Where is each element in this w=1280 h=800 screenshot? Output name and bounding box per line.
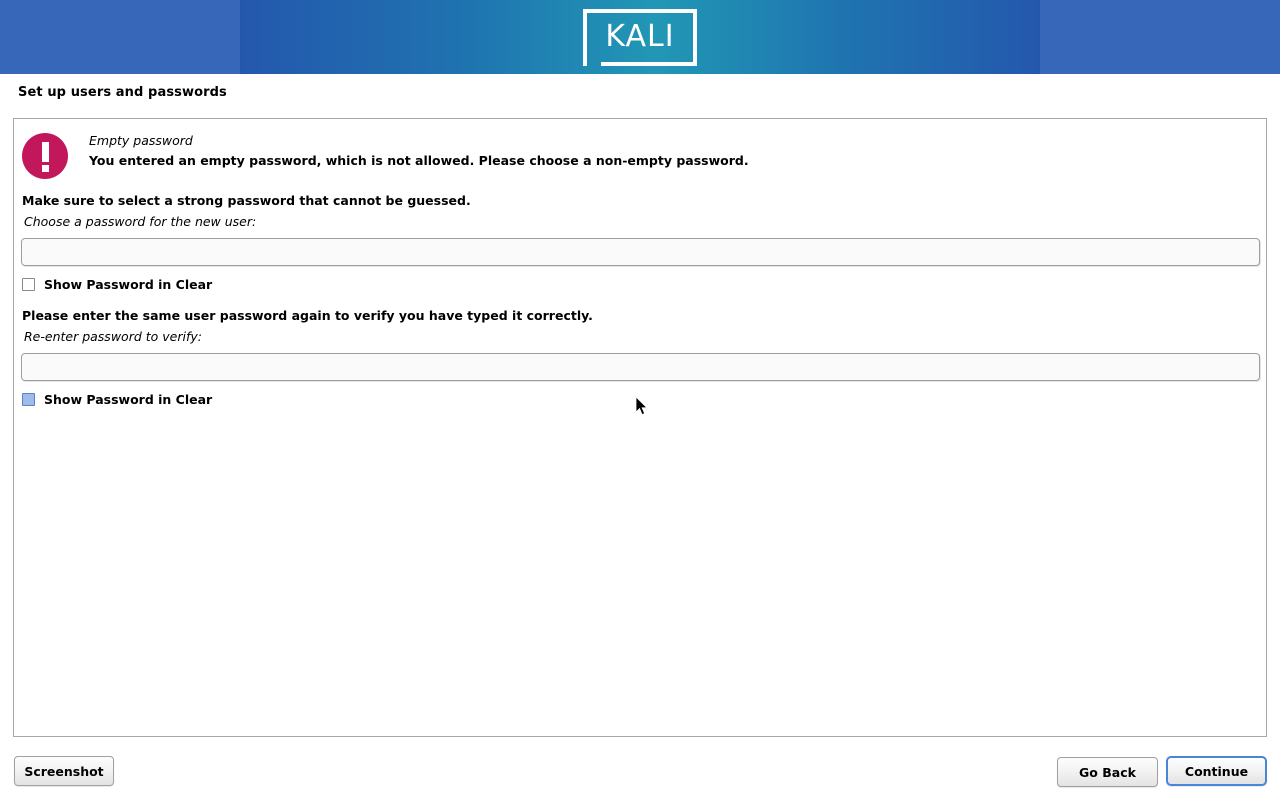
error-exclamation-icon xyxy=(22,133,68,179)
show-password-clear-label-2: Show Password in Clear xyxy=(44,392,212,407)
kali-logo: KALI xyxy=(583,9,697,66)
screenshot-button[interactable]: Screenshot xyxy=(14,756,114,786)
kali-logo-text: KALI xyxy=(583,9,697,66)
verify-password-input[interactable] xyxy=(21,353,1260,381)
password-input[interactable] xyxy=(21,238,1260,266)
password-instruction: Make sure to select a strong password th… xyxy=(22,193,471,208)
continue-button[interactable]: Continue xyxy=(1166,756,1267,786)
kali-banner: KALI xyxy=(0,0,1280,74)
verify-field-label: Re-enter password to verify: xyxy=(24,329,202,344)
installer-screen: KALI Set up users and passwords Empty pa… xyxy=(0,0,1280,800)
error-message: You entered an empty password, which is … xyxy=(89,153,749,168)
show-password-clear-label-1: Show Password in Clear xyxy=(44,277,212,292)
verify-instruction: Please enter the same user password agai… xyxy=(22,308,593,323)
password-field-label: Choose a password for the new user: xyxy=(24,214,256,229)
show-password-clear-checkbox-row-1[interactable]: Show Password in Clear xyxy=(22,277,212,292)
error-title: Empty password xyxy=(89,133,193,148)
page-title: Set up users and passwords xyxy=(18,85,227,100)
show-password-clear-checkbox-1[interactable] xyxy=(22,278,35,291)
show-password-clear-checkbox-2[interactable] xyxy=(22,393,35,406)
show-password-clear-checkbox-row-2[interactable]: Show Password in Clear xyxy=(22,392,212,407)
main-content-panel: Empty password You entered an empty pass… xyxy=(13,118,1267,737)
go-back-button[interactable]: Go Back xyxy=(1057,757,1158,787)
